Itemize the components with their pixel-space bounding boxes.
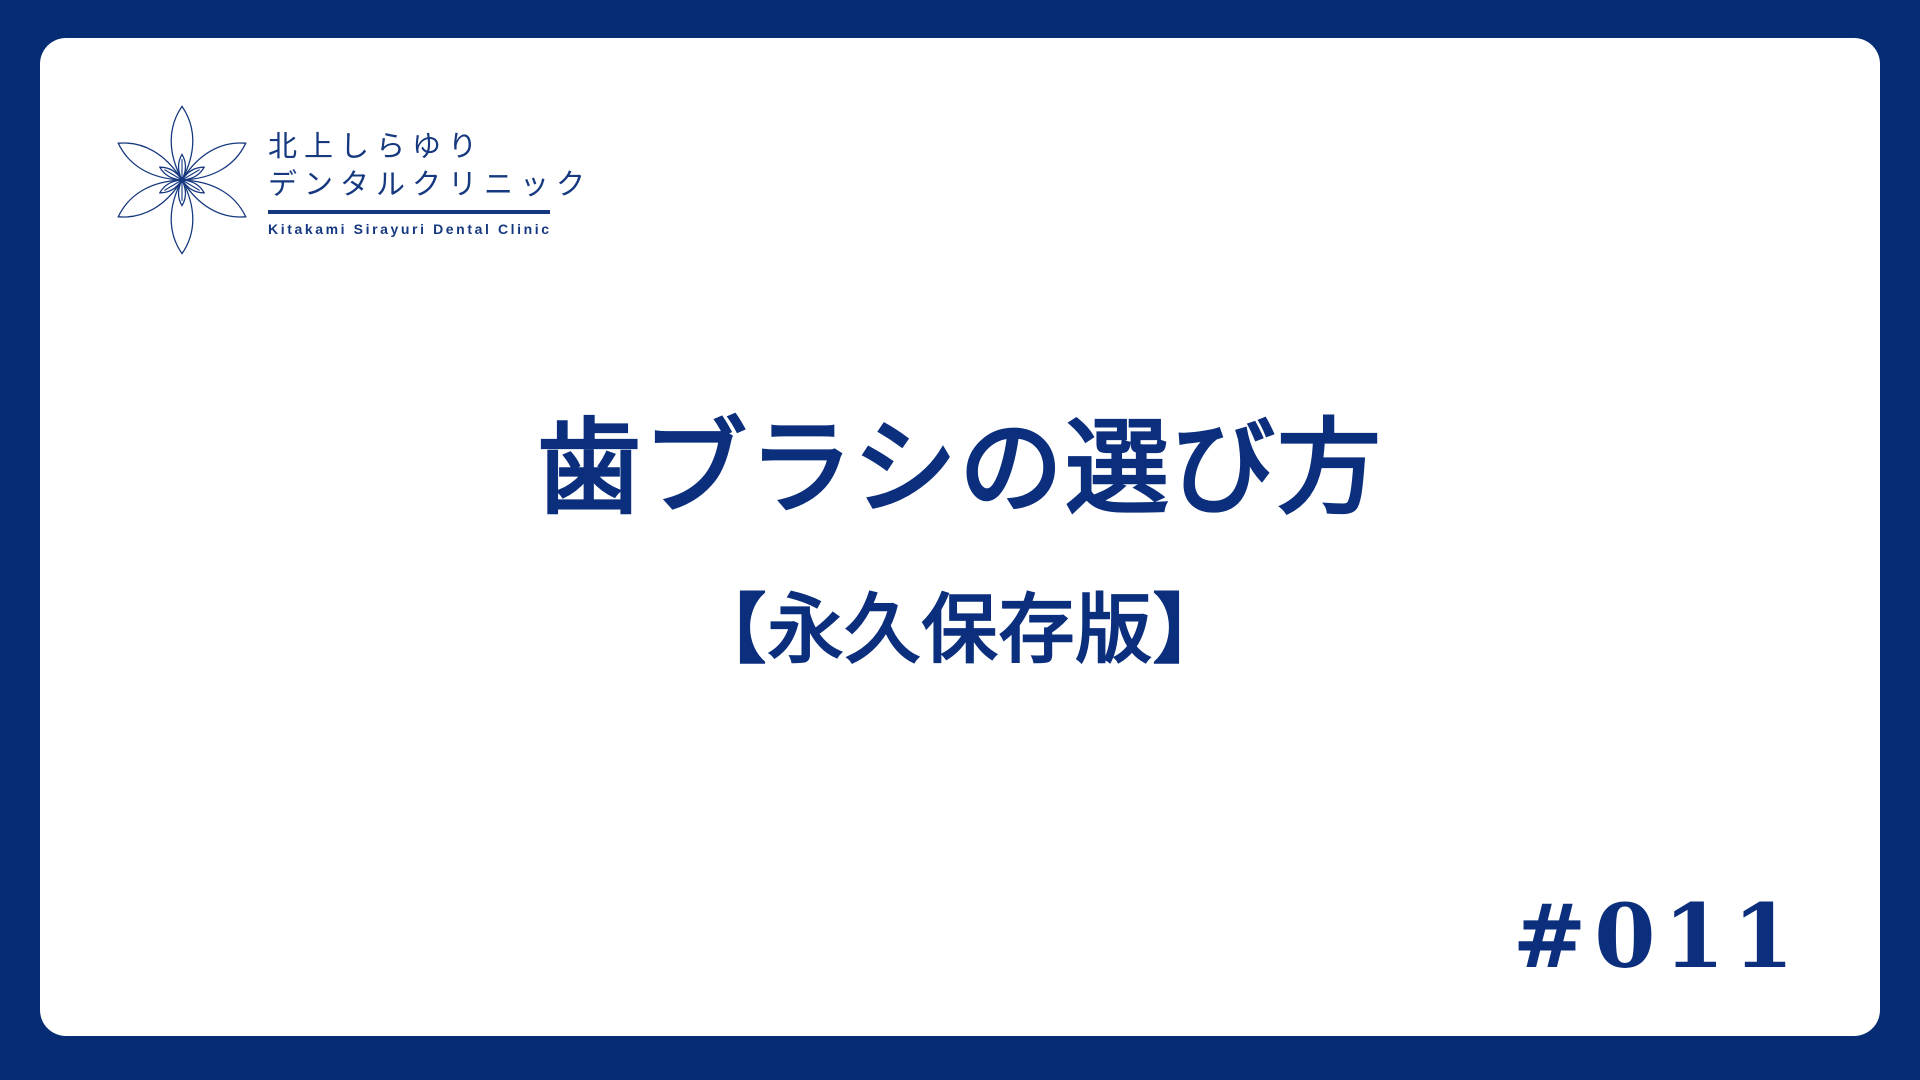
clinic-logo: 北上しらゆり デンタルクリニック Kitakami Sirayuri Denta… <box>102 100 592 260</box>
slide-frame: 北上しらゆり デンタルクリニック Kitakami Sirayuri Denta… <box>0 0 1920 1080</box>
headings-group: 歯ブラシの選び方 【永久保存版】 <box>40 410 1880 674</box>
clinic-name-en: Kitakami Sirayuri Dental Clinic <box>268 221 592 237</box>
logo-divider <box>268 210 550 214</box>
lily-flower-icon <box>102 100 262 260</box>
episode-number: #011 <box>1513 892 1802 980</box>
page-title: 歯ブラシの選び方 <box>40 410 1880 526</box>
slide-card: 北上しらゆり デンタルクリニック Kitakami Sirayuri Denta… <box>40 38 1880 1036</box>
page-subtitle: 【永久保存版】 <box>40 586 1880 673</box>
clinic-logo-text: 北上しらゆり デンタルクリニック Kitakami Sirayuri Denta… <box>268 123 592 238</box>
clinic-name-jp-line2: デンタルクリニック <box>268 165 592 203</box>
clinic-name-jp-line1: 北上しらゆり <box>268 127 592 165</box>
